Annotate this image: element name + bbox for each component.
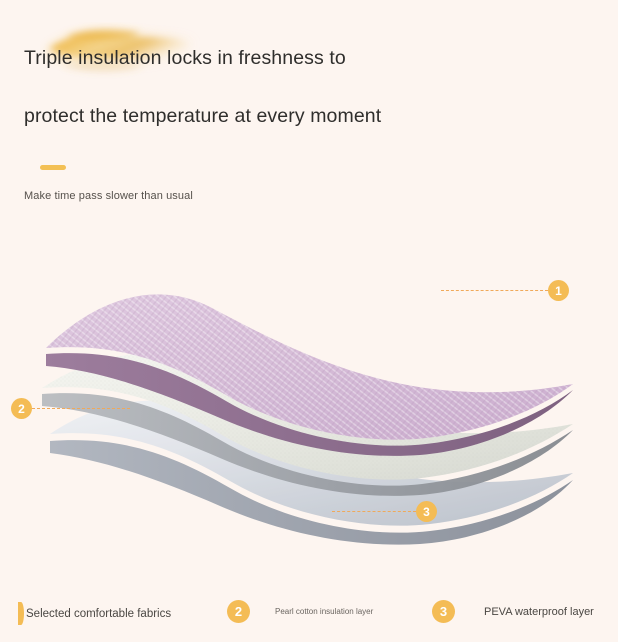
- callout-1-dash: [441, 290, 548, 291]
- legend-item-2[interactable]: 2 Pearl cotton insulation layer: [227, 600, 373, 623]
- callout-1-badge: 1: [548, 280, 569, 301]
- callout-2-badge: 2: [11, 398, 32, 419]
- legend-item-3[interactable]: 3 PEVA waterproof layer: [432, 600, 594, 623]
- product-feature-page: Triple insulation locks in freshness to …: [0, 0, 618, 642]
- callout-3-badge: 3: [416, 501, 437, 522]
- accent-divider: [40, 165, 66, 170]
- legend-label-2: Pearl cotton insulation layer: [275, 607, 373, 616]
- legend-badge-2: 2: [227, 600, 250, 623]
- legend-badge-3: 3: [432, 600, 455, 623]
- legend-item-1[interactable]: 1 Selected comfortable fabrics: [18, 602, 171, 625]
- callout-2-dash: [32, 408, 130, 409]
- fabric-layers-illustration: [0, 248, 618, 548]
- legend-label-3: PEVA waterproof layer: [484, 606, 594, 618]
- callout-3-dash: [332, 511, 416, 512]
- legend-badge-1: 1: [18, 602, 24, 625]
- legend-label-1: Selected comfortable fabrics: [26, 608, 171, 620]
- headline-line-2: protect the temperature at every moment: [24, 105, 381, 128]
- layer-legend: 1 Selected comfortable fabrics 2 Pearl c…: [0, 585, 618, 642]
- headline-line-1: Triple insulation locks in freshness to: [24, 47, 346, 70]
- subtitle: Make time pass slower than usual: [24, 190, 193, 202]
